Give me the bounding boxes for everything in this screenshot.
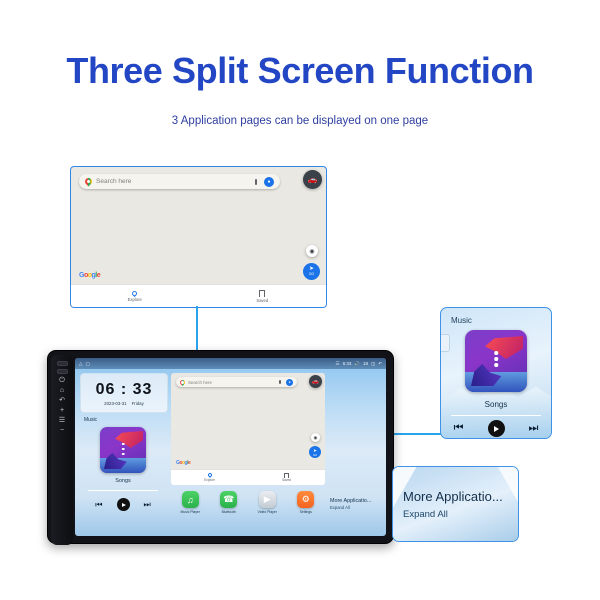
compass-icon[interactable]: ◉ <box>306 245 318 257</box>
google-logo: Google <box>79 272 100 279</box>
more-applications-widget[interactable]: More Applicatio... Expand All <box>327 489 385 519</box>
seek-bar[interactable] <box>88 490 158 491</box>
music-controls: ⏮ ⏭ <box>95 498 150 511</box>
next-track-icon[interactable]: ⏭ <box>529 422 539 435</box>
app-label: Settings <box>300 510 312 514</box>
search-input[interactable]: Search here ● <box>79 174 280 189</box>
music-song-title: Songs <box>115 478 131 484</box>
device-screen: △ ▢ ☰ 6:33 🔊 18 ◫ ↶ 06 : 33 2023-03-31 F… <box>75 358 386 536</box>
more-applications-subtitle: Expand All <box>403 509 448 520</box>
back-icon[interactable]: ↶ <box>378 361 382 367</box>
music-song-title: Songs <box>441 400 551 409</box>
clock-date-row: 2023-03-31 Friday <box>104 401 144 406</box>
mic-icon[interactable] <box>255 179 258 185</box>
search-placeholder: Search here <box>188 380 279 385</box>
search-input[interactable]: Search here ● <box>176 377 297 387</box>
map-pin-icon <box>208 473 212 477</box>
play-rect-icon: ▶ <box>259 491 276 508</box>
clock-widget: 06 : 33 2023-03-31 Friday <box>80 373 168 413</box>
callout-music-panel: Music Songs ⏮ ⏭ <box>440 307 552 439</box>
go-label: GO <box>309 272 314 277</box>
phone-icon: ☎ <box>220 491 237 508</box>
maps-bottom-nav: Explore Saved <box>171 469 325 485</box>
volume-down-button[interactable]: − <box>60 427 64 434</box>
mic-button[interactable] <box>57 361 68 366</box>
callout-maps-panel: Search here ● 🚗 ◉ ➤ GO Google Explore Sa… <box>70 166 327 308</box>
more-applications-title: More Applicatio... <box>403 489 503 504</box>
clock-weekday: Friday <box>132 401 144 406</box>
home-button[interactable]: ⌂ <box>60 387 64 394</box>
play-icon[interactable] <box>117 498 130 511</box>
app-bluetooth[interactable]: ☎ Bluetooth <box>212 491 246 514</box>
bookmark-icon <box>259 290 265 297</box>
more-applications-title: More Applicatio... <box>330 498 385 504</box>
background-pattern <box>393 467 518 541</box>
album-art <box>465 330 527 392</box>
status-bar: △ ▢ ☰ 6:33 🔊 18 ◫ ↶ <box>75 358 386 369</box>
nav-explore-label: Explore <box>128 297 142 302</box>
app-label: Video Player <box>258 510 277 514</box>
panel-drag-handle[interactable] <box>440 334 450 352</box>
account-icon[interactable]: ● <box>286 379 293 386</box>
map-pin-icon <box>132 291 137 296</box>
more-applications-subtitle: Expand All <box>330 505 385 510</box>
next-track-icon[interactable]: ⏭ <box>144 500 151 510</box>
music-panel-title: Music <box>451 316 472 325</box>
navigate-go-icon[interactable]: ➤ GO <box>303 263 320 280</box>
music-widget: Music Songs ⏮ ⏭ <box>80 414 166 514</box>
music-controls: ⏮ ⏭ <box>441 420 551 437</box>
nav-saved[interactable]: Saved <box>248 470 325 485</box>
back-button[interactable]: ↶ <box>59 397 65 404</box>
app-label: Bluetooth <box>222 510 236 514</box>
account-icon[interactable]: ● <box>264 177 274 187</box>
volume-knob[interactable]: ☰ <box>59 417 65 424</box>
home-status-icon: △ <box>79 361 82 367</box>
status-time: 6:33 <box>343 361 352 366</box>
music-widget-title: Music <box>84 417 97 423</box>
device-side-buttons: ⏻ ⌂ ↶ + ☰ − <box>51 355 73 545</box>
compass-icon[interactable]: ◉ <box>311 433 320 442</box>
nav-saved-label: Saved <box>282 478 291 482</box>
nav-explore[interactable]: Explore <box>171 470 248 485</box>
search-placeholder: Search here <box>96 178 255 185</box>
go-label: GO <box>313 454 317 457</box>
app-dock: ♫ Music Player ☎ Bluetooth ▶ Video Playe… <box>171 489 325 519</box>
car-head-unit-device: ⏻ ⌂ ↶ + ☰ − △ ▢ ☰ 6:33 🔊 18 ◫ ↶ <box>47 350 394 544</box>
nav-saved[interactable]: Saved <box>199 285 327 307</box>
prev-track-icon[interactable]: ⏮ <box>454 422 464 435</box>
album-art-hand-top <box>115 431 143 448</box>
gear-icon: ⚙ <box>297 491 314 508</box>
bluetooth-icon: ☰ <box>336 361 340 367</box>
map-pin-icon <box>180 380 185 385</box>
app-music-player[interactable]: ♫ Music Player <box>173 491 207 514</box>
play-icon[interactable] <box>488 420 505 437</box>
callout-more-applications[interactable]: More Applicatio... Expand All <box>392 466 519 542</box>
app-video-player[interactable]: ▶ Video Player <box>250 491 284 514</box>
clock-time: 06 : 33 <box>96 381 153 399</box>
album-art-hand-top <box>485 336 523 359</box>
nav-saved-label: Saved <box>256 298 268 303</box>
page-title: Three Split Screen Function <box>0 50 600 92</box>
navigate-go-icon[interactable]: ➤ GO <box>309 446 321 458</box>
device-maps-widget: Search here ● 🚗 ◉ ➤ GO Google Explore <box>171 373 325 485</box>
power-button[interactable]: ⏻ <box>59 377 65 384</box>
car-avatar-icon[interactable]: 🚗 <box>309 375 322 388</box>
nav-explore[interactable]: Explore <box>71 285 199 307</box>
app-label: Music Player <box>181 510 200 514</box>
apps-status-icon: ▢ <box>85 361 89 367</box>
poster-root: Three Split Screen Function 3 Applicatio… <box>0 0 600 600</box>
bookmark-icon <box>284 473 289 478</box>
volume-up-button[interactable]: + <box>60 407 64 414</box>
volume-level: 18 <box>363 361 368 366</box>
album-art-dots <box>122 443 125 456</box>
volume-icon: 🔊 <box>354 361 360 367</box>
nav-explore-label: Explore <box>204 478 215 482</box>
car-avatar-icon[interactable]: 🚗 <box>303 170 322 189</box>
reset-button[interactable] <box>57 369 68 374</box>
music-note-icon: ♫ <box>182 491 199 508</box>
mic-icon[interactable] <box>279 380 281 384</box>
page-subtitle: 3 Application pages can be displayed on … <box>0 115 600 127</box>
album-art <box>100 427 146 473</box>
album-art-dots <box>494 351 498 367</box>
google-logo: Google <box>176 460 190 466</box>
clock-date: 2023-03-31 <box>104 401 126 406</box>
battery-icon: ◫ <box>371 361 375 367</box>
prev-track-icon[interactable]: ⏮ <box>95 500 102 510</box>
map-pin-icon <box>85 178 92 185</box>
maps-bottom-nav: Explore Saved <box>71 284 326 307</box>
app-settings[interactable]: ⚙ Settings <box>289 491 323 514</box>
